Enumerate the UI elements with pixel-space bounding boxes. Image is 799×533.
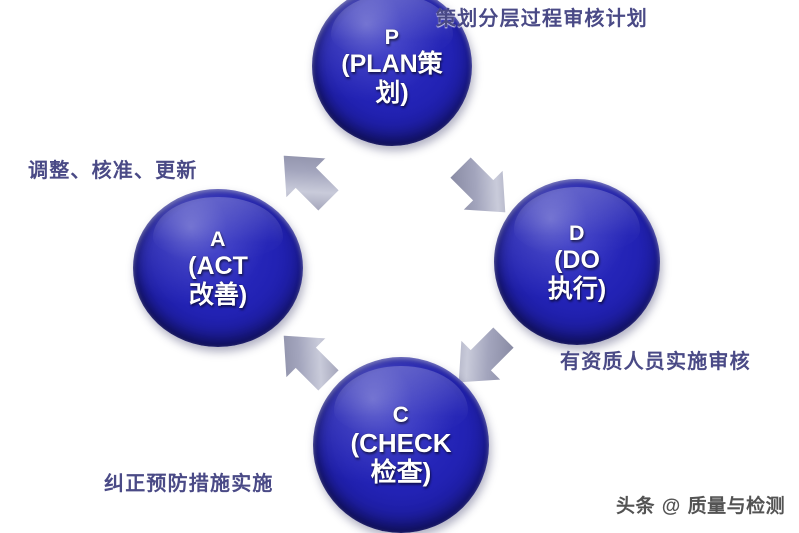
watermark-source: 头条 [616,496,655,517]
caption-act: 调整、核准、更新 [28,154,198,183]
watermark-at-symbol: @ [662,496,681,517]
node-act-key: A [210,227,226,252]
node-act-title: (ACT [188,252,248,281]
pdca-node-do[interactable]: D (DO 执行) [494,179,660,345]
node-act-title-2: 改善) [189,281,247,310]
caption-check: 纠正预防措施实施 [104,467,274,496]
caption-plan: 策划分层过程审核计划 [436,2,648,31]
node-do-key: D [569,221,585,246]
pdca-node-check[interactable]: C (CHECK 检查) [313,357,489,533]
caption-do: 有资质人员实施审核 [560,345,751,374]
pdca-diagram-canvas: P (PLAN策 划) D (DO 执行) C (CHECK 检查) A (AC… [0,0,799,533]
arrow-act-to-plan [268,142,346,216]
node-check-key: C [393,402,410,427]
arrow-check-to-act [268,322,346,396]
pdca-node-act[interactable]: A (ACT 改善) [133,189,303,347]
node-do-title-2: 执行) [548,275,606,304]
watermark: 头条 @ 质量与检测 [616,491,785,518]
node-do-title: (DO [554,246,600,275]
node-check-title-2: 检查) [371,458,432,488]
node-plan-title-2: 划) [375,79,408,108]
node-check-title: (CHECK [350,429,451,459]
node-plan-title: (PLAN策 [341,50,442,79]
watermark-account: 质量与检测 [688,496,786,517]
node-plan-key: P [385,25,400,50]
